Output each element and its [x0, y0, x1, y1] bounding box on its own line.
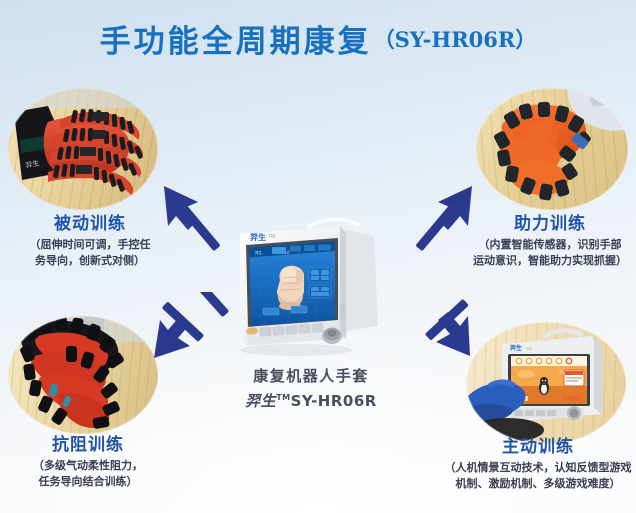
glove-illustration-assist: [476, 88, 628, 210]
photo-active-training: 羿生 TM: [466, 322, 626, 444]
center-device-caption: 康复机器人手套 羿生TMSY-HR06R: [186, 366, 436, 412]
page-title: 手功能全周期康复（SY-HR06R）: [0, 16, 636, 61]
caption-brand: 羿生: [245, 392, 276, 410]
poster-canvas: 手功能全周期康复（SY-HR06R） 羿生: [0, 0, 636, 513]
console-with-game-illustration: 羿生 TM: [466, 322, 626, 444]
desc-line: （屈伸时间可调，手控任: [10, 237, 170, 253]
caption-brand-model: 羿生TMSY-HR06R: [186, 387, 436, 412]
label-active-title: 主动训练: [440, 436, 636, 458]
label-assist-title: 助力训练: [466, 213, 634, 235]
label-resist-title: 抗阻训练: [8, 434, 168, 456]
arrow-down-left-icon: [150, 292, 238, 364]
desc-line: （多级气动柔性阻力，: [8, 458, 168, 474]
central-console-device: 羿生 TM 羿生 训练模式: [228, 214, 386, 356]
desc-line: （内置智能传感器，识别手部: [466, 237, 634, 253]
arrow-up-right-icon: [396, 182, 478, 256]
glove-illustration-passive: 羿生: [8, 88, 158, 210]
label-active-desc: （人机情景互动技术，认知反馈型游戏 机制、激励机制、多级游戏难度）: [440, 460, 636, 492]
photo-assist-training: [476, 88, 628, 210]
svg-text:羿生: 羿生: [255, 250, 262, 255]
svg-text:TM: TM: [268, 234, 275, 240]
glove-illustration-resist: [8, 316, 158, 434]
photo-resist-training: [8, 316, 158, 434]
svg-text:羿生: 羿生: [510, 344, 522, 352]
label-assist-desc: （内置智能传感器，识别手部 运动意识，智能助力实现抓握）: [466, 237, 634, 269]
desc-line: 任务导向结合训练）: [8, 474, 168, 490]
label-passive-training: 被动训练 （屈伸时间可调，手控任 务导向，创新式对侧）: [10, 213, 170, 269]
label-active-training: 主动训练 （人机情景互动技术，认知反馈型游戏 机制、激励机制、多级游戏难度）: [440, 436, 636, 492]
caption-product-name: 康复机器人手套: [186, 366, 436, 387]
desc-line: 运动意识，智能助力实现抓握）: [466, 253, 634, 269]
caption-tm: TM: [276, 393, 290, 402]
arrow-down-right-icon: [392, 290, 488, 364]
label-passive-desc: （屈伸时间可调，手控任 务导向，创新式对侧）: [10, 237, 170, 269]
photo-passive-training: 羿生: [8, 88, 158, 210]
desc-line: 务导向，创新式对侧）: [10, 253, 170, 269]
svg-text:TM: TM: [526, 346, 532, 351]
caption-model: SY-HR06R: [291, 392, 377, 410]
label-passive-title: 被动训练: [10, 213, 170, 235]
label-resist-training: 抗阻训练 （多级气动柔性阻力， 任务导向结合训练）: [8, 434, 168, 490]
label-assist-training: 助力训练 （内置智能传感器，识别手部 运动意识，智能助力实现抓握）: [466, 213, 634, 269]
page-title-model: （SY-HR06R）: [374, 27, 537, 52]
page-title-main: 手功能全周期康复: [100, 24, 372, 60]
desc-line: 机制、激励机制、多级游戏难度）: [440, 476, 636, 492]
svg-text:羿生: 羿生: [250, 232, 266, 242]
label-resist-desc: （多级气动柔性阻力， 任务导向结合训练）: [8, 458, 168, 490]
desc-line: （人机情景互动技术，认知反馈型游戏: [440, 460, 636, 476]
